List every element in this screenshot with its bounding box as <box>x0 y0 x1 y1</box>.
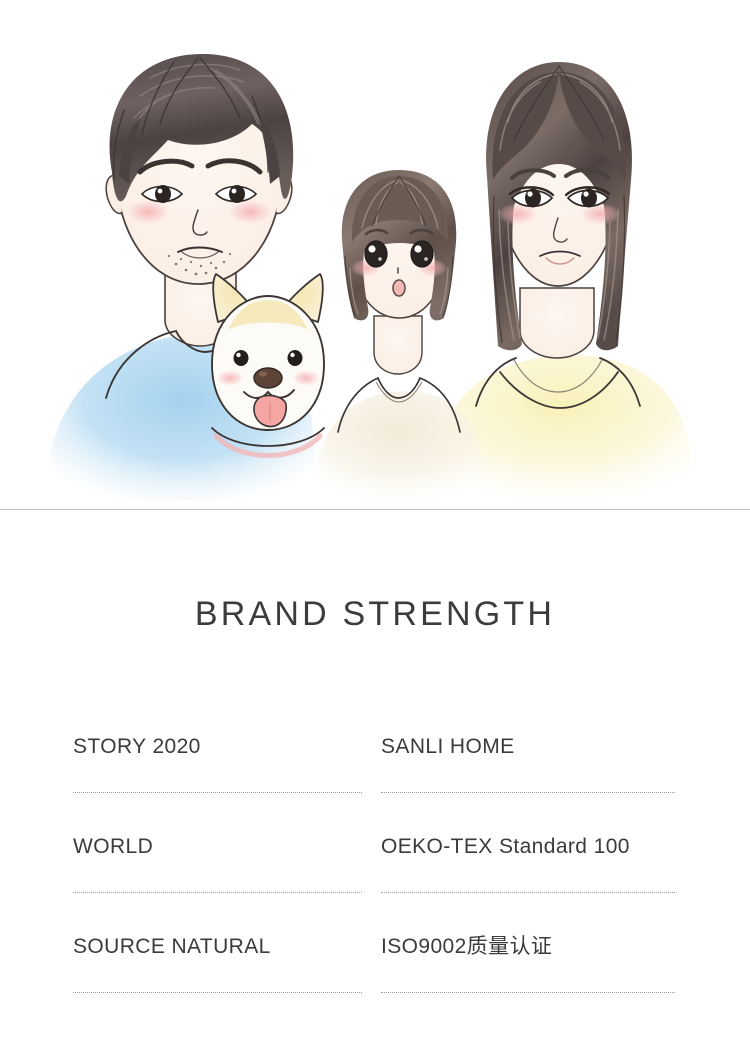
dotted-rule <box>73 892 362 893</box>
table-row: WORLD OEKO-TEX Standard 100 <box>73 816 677 916</box>
spec-cell-right: OEKO-TEX Standard 100 <box>372 816 677 916</box>
spec-cell-left: STORY 2020 <box>73 716 372 816</box>
spec-value-brand-name: SANLI HOME <box>381 734 515 760</box>
figure-man <box>45 54 318 500</box>
family-watercolor-illustration <box>0 0 750 500</box>
spec-cell-left: WORLD <box>73 816 372 916</box>
table-row: STORY 2020 SANLI HOME <box>73 716 677 816</box>
table-row: SOURCE NATURAL ISO9002质量认证 <box>73 916 677 1016</box>
spec-cell-right: ISO9002质量认证 <box>372 916 677 1016</box>
brand-strength-section: BRAND STRENGTH STORY 2020 SANLI HOME WOR… <box>0 511 750 1063</box>
dotted-rule <box>381 892 675 893</box>
spec-value-oeko-tex: OEKO-TEX Standard 100 <box>381 834 630 860</box>
spec-cell-left: SOURCE NATURAL <box>73 916 372 1016</box>
section-divider <box>0 509 750 510</box>
brand-spec-table: STORY 2020 SANLI HOME WORLD OEKO-TEX Sta… <box>73 716 677 1016</box>
spec-label-story: STORY 2020 <box>73 734 201 760</box>
dotted-rule <box>73 992 362 993</box>
spec-cell-right: SANLI HOME <box>372 716 677 816</box>
dotted-rule <box>73 792 362 793</box>
spec-value-iso9002: ISO9002质量认证 <box>381 934 552 960</box>
spec-label-source-natural: SOURCE NATURAL <box>73 934 271 960</box>
hero-illustration-panel <box>0 0 750 510</box>
page-title: BRAND STRENGTH <box>0 594 750 634</box>
spec-label-world: WORLD <box>73 834 153 860</box>
dotted-rule <box>381 792 675 793</box>
dotted-rule <box>381 992 675 993</box>
figure-girl <box>312 170 484 500</box>
